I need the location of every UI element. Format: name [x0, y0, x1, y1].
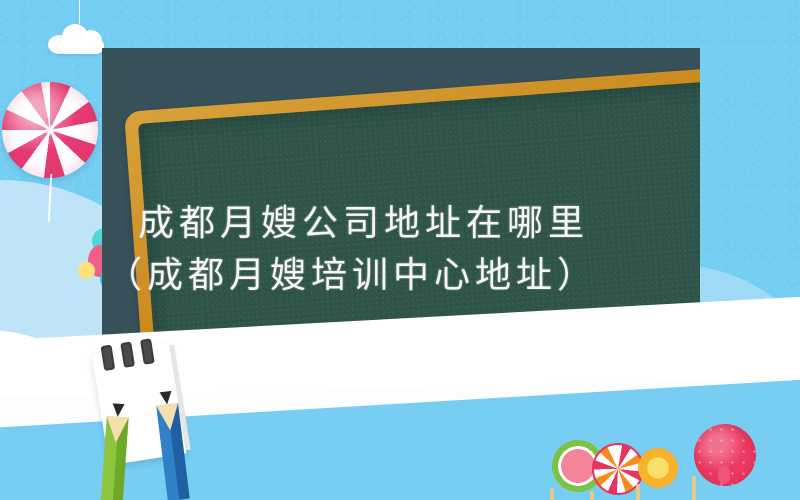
- poster-canvas: 成都月嫂公司地址在哪里 （成都月嫂培训中心地址）: [0, 0, 800, 500]
- cloud-string: [79, 0, 80, 24]
- headline-line-2: （成都月嫂培训中心地址）: [0, 250, 800, 302]
- headline-text: 成都月嫂公司地址在哪里 （成都月嫂培训中心地址）: [0, 198, 800, 302]
- spiral-lollipop-stick-wrap: [2, 82, 98, 178]
- headline-line-1: 成都月嫂公司地址在哪里: [0, 198, 800, 250]
